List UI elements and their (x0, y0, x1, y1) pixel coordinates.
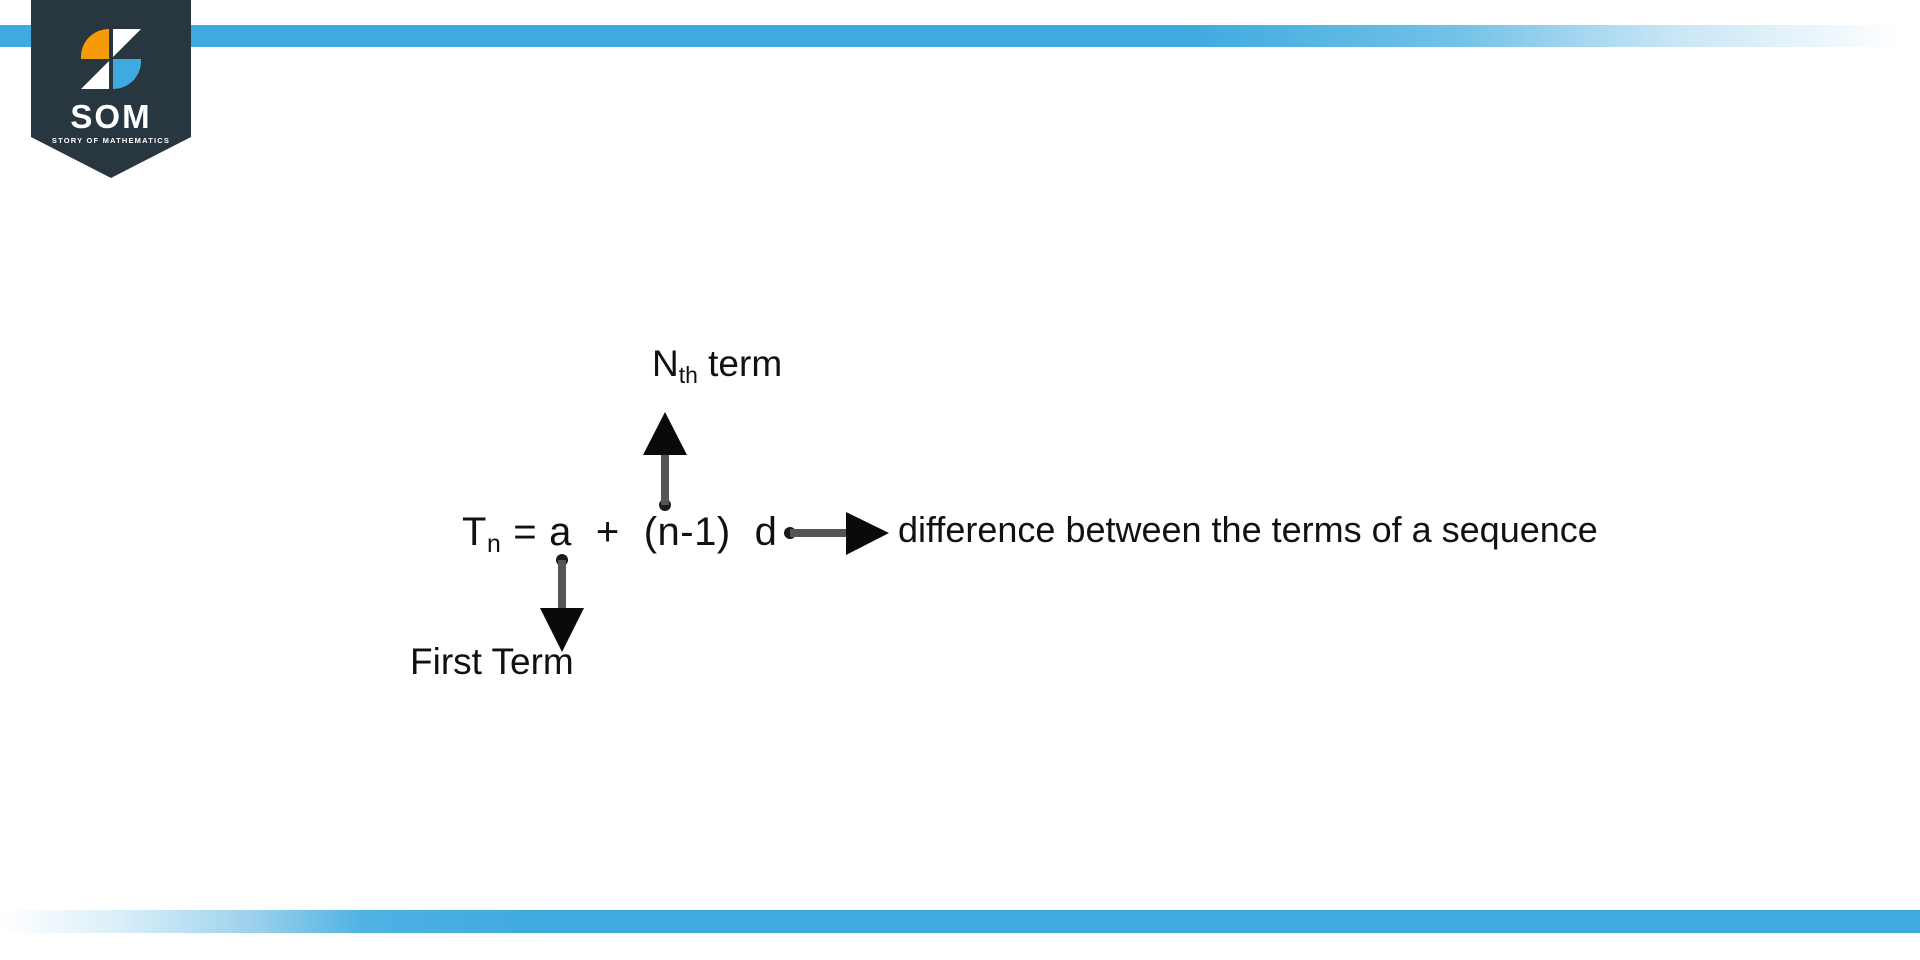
formula-expression: Tn=a+(n-1)d (462, 512, 777, 552)
formula-equals: = (513, 510, 537, 554)
formula-T-sub: n (487, 531, 501, 558)
nth-term-main: N (652, 343, 679, 384)
callout-label-nth-term: Nth term (652, 345, 782, 382)
som-logo-mark-icon (79, 27, 143, 91)
callout-label-first-term: First Term (410, 643, 574, 680)
formula-plus: + (596, 510, 620, 554)
arrow-up-nth-term (643, 412, 687, 511)
som-wordmark: SOM (31, 100, 191, 133)
arrow-right-common-difference (784, 512, 889, 555)
nth-term-sub: th (679, 362, 698, 388)
arrow-down-first-term (540, 554, 584, 652)
callout-arrows (0, 0, 1920, 960)
formula-T: T (462, 510, 487, 554)
formula-d: d (755, 510, 778, 554)
callout-label-common-difference: difference between the terms of a sequen… (898, 512, 1598, 548)
formula-paren: (n-1) (644, 510, 731, 554)
nth-term-tail: term (698, 343, 782, 384)
som-tagline: STORY OF MATHEMATICS (31, 136, 191, 145)
formula-a: a (549, 510, 572, 554)
formula-diagram: Nth term Tn=a+(n-1)d First Term differen… (0, 0, 1920, 960)
